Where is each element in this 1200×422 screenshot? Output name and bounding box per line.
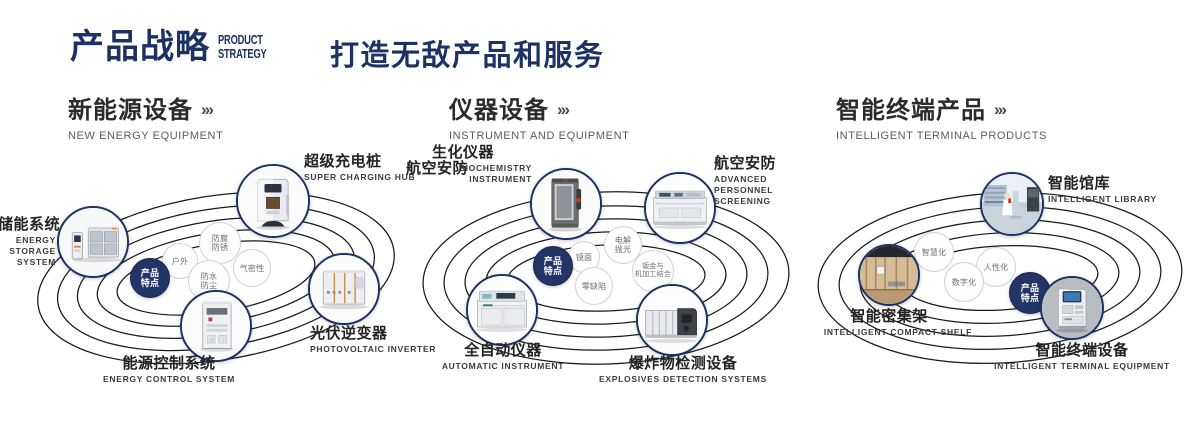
node-label-terminal-equipment: 智能终端设备 INTELLIGENT TERMINAL EQUIPMENT: [982, 342, 1182, 372]
chevron-right-icon: ›››: [557, 96, 568, 124]
node-label-cn: 智能终端设备: [982, 342, 1182, 360]
section-title-cn: 智能终端产品›››: [836, 96, 1047, 125]
feature-bubble-label: 户外: [170, 257, 190, 266]
chevron-right-icon: ›››: [201, 96, 212, 124]
page-title-english-line2: STRATEGY: [218, 47, 267, 61]
feature-bubble-label: 智慧化: [920, 248, 949, 257]
node-label-en: BIOCHEMISTRY INSTRUMENT: [432, 163, 532, 185]
self-service-kiosk-icon: [1042, 278, 1102, 338]
node-explosives-detection[interactable]: [636, 284, 708, 356]
node-label-en: INTELLIGENT COMPACT SHELF: [806, 327, 972, 338]
node-label-cn: 智能密集架: [806, 308, 972, 326]
core-badge-line2: 特点: [1021, 293, 1040, 303]
core-badge-line1: 产品: [1021, 283, 1040, 293]
node-label-cn: 生化仪器: [432, 144, 532, 162]
core-badge: 产品特点: [130, 258, 170, 298]
section-heading-intelligent-terminal: 智能终端产品››› INTELLIGENT TERMINAL PRODUCTS: [836, 96, 1047, 142]
node-label-cn: 爆炸物检测设备: [590, 355, 776, 373]
node-terminal-equipment[interactable]: [1040, 276, 1104, 340]
node-label-intelligent-library: 智能馆库 INTELLIGENT LIBRARY: [1048, 175, 1157, 205]
node-label-en: AUTOMATIC INSTRUMENT: [424, 361, 582, 372]
feature-bubble: 零缺陷: [575, 267, 613, 305]
node-label-en: ADVANCED PERSONNEL SCREENING: [714, 174, 808, 207]
feature-bubble: 智慧化: [914, 232, 954, 272]
auto-analyzer-icon: [468, 276, 536, 344]
feature-bubble-label: 数字化: [950, 278, 979, 287]
cluster-intelligent-terminal: 智慧化 人性化 数字化 产品特点: [800, 150, 1200, 410]
feature-bubble-label: 镜面: [574, 253, 594, 262]
page-slogan: 打造无敌产品和服务: [330, 32, 605, 74]
svg-text:!: !: [223, 338, 224, 344]
section-heading-instrument: 仪器设备››› INSTRUMENT AND EQUIPMENT: [449, 96, 629, 142]
node-label-cn: 航空安防: [714, 155, 808, 173]
node-label-energy-control: 能源控制系统 ENERGY CONTROL SYSTEM: [74, 355, 264, 385]
node-automatic-instrument[interactable]: [466, 274, 538, 346]
section-title-cn-text: 智能终端产品: [836, 97, 986, 124]
node-label-cn: 能源控制系统: [74, 355, 264, 373]
node-label-en: ENERGY STORAGE SYSTEM: [0, 235, 56, 268]
feature-bubble-label: 电解 抛光: [613, 236, 633, 254]
page-title-english-line1: PRODUCT: [218, 33, 267, 47]
feature-bubble-label: 钣金与 机加工结合: [633, 263, 673, 279]
node-label-energy-storage: 储能系统 ENERGY STORAGE SYSTEM: [0, 216, 56, 268]
energy-storage-cabinet-icon: [59, 208, 127, 276]
node-energy-storage[interactable]: [57, 206, 129, 278]
product-strategy-infographic: 产品战略 PRODUCT STRATEGY 打造无敌产品和服务 新能源设备›››…: [0, 0, 1200, 422]
feature-bubble-label: 气密性: [238, 264, 267, 273]
feature-bubble-label: 防水 防尘: [199, 272, 219, 290]
control-cabinet-icon: ! !: [182, 292, 250, 360]
node-label-en: ENERGY CONTROL SYSTEM: [74, 374, 264, 385]
pv-inverter-cabinet-icon: [310, 255, 378, 323]
lab-analyzer-icon: [646, 174, 714, 242]
core-badge-line2: 特点: [141, 278, 160, 288]
charging-pile-icon: [238, 166, 308, 236]
section-title-cn-text: 仪器设备: [449, 97, 549, 124]
node-label-cn: 全自动仪器: [424, 342, 582, 360]
node-intelligent-library[interactable]: [980, 172, 1044, 236]
section-title-cn: 新能源设备›››: [68, 96, 223, 125]
section-title-en: INSTRUMENT AND EQUIPMENT: [449, 130, 629, 142]
page-title: 产品战略: [70, 27, 210, 67]
feature-bubble-label: 零缺陷: [580, 282, 609, 291]
core-badge-line2: 特点: [544, 266, 563, 276]
page-title-english: PRODUCT STRATEGY: [218, 33, 267, 61]
feature-bubble: 气密性: [233, 249, 271, 287]
node-label-cn: 储能系统: [0, 216, 56, 234]
security-scanner-icon: [532, 170, 600, 238]
node-pv-inverter[interactable]: [308, 253, 380, 325]
section-title-en: INTELLIGENT TERMINAL PRODUCTS: [836, 130, 1047, 142]
node-compact-shelf[interactable]: [858, 244, 920, 306]
svg-text:!: !: [211, 338, 212, 344]
section-title-en: NEW ENERGY EQUIPMENT: [68, 130, 223, 142]
node-label-en: INTELLIGENT LIBRARY: [1048, 194, 1157, 205]
node-advanced-personnel-screening[interactable]: [644, 172, 716, 244]
node-energy-control[interactable]: ! !: [180, 290, 252, 362]
cluster-instrument: 镜面 电解 抛光 钣金与 机加工结合 零缺陷 产品特点 航空安防: [408, 150, 808, 410]
core-badge-line1: 产品: [141, 268, 160, 278]
core-badge: 产品特点: [533, 246, 573, 286]
page-header: 产品战略 PRODUCT STRATEGY 打造无敌产品和服务: [0, 0, 1200, 86]
compact-shelf-icon: [860, 246, 918, 304]
library-interior-icon: [982, 174, 1042, 234]
feature-bubble-label: 防腐 防锈: [210, 234, 230, 252]
section-heading-new-energy: 新能源设备››› NEW ENERGY EQUIPMENT: [68, 96, 223, 142]
node-label-cn: 智能馆库: [1048, 175, 1157, 193]
node-label-en: INTELLIGENT TERMINAL EQUIPMENT: [982, 361, 1182, 372]
node-label-explosives-detection: 爆炸物检测设备 EXPLOSIVES DETECTION SYSTEMS: [590, 355, 776, 385]
cluster-new-energy: 户外 防腐 防锈 气密性 防水 防尘 产品特点: [20, 150, 420, 410]
feature-bubble: 数字化: [944, 262, 984, 302]
node-label-compact-shelf: 智能密集架 INTELLIGENT COMPACT SHELF: [806, 308, 972, 338]
node-label-automatic-instrument: 全自动仪器 AUTOMATIC INSTRUMENT: [424, 342, 582, 372]
explosive-detector-icon: [638, 286, 706, 354]
node-label-en: EXPLOSIVES DETECTION SYSTEMS: [590, 374, 776, 385]
core-badge-line1: 产品: [544, 256, 563, 266]
node-label-biochemistry: 生化仪器 BIOCHEMISTRY INSTRUMENT: [432, 144, 532, 185]
node-charging-pile[interactable]: [236, 164, 310, 238]
chevron-right-icon: ›››: [994, 96, 1005, 124]
node-biochemistry-instrument[interactable]: [530, 168, 602, 240]
section-title-cn: 仪器设备›››: [449, 96, 629, 125]
section-title-cn-text: 新能源设备: [68, 97, 193, 124]
feature-bubble-label: 人性化: [982, 263, 1011, 272]
node-label-personnel-screening: 航空安防 ADVANCED PERSONNEL SCREENING: [714, 155, 808, 207]
